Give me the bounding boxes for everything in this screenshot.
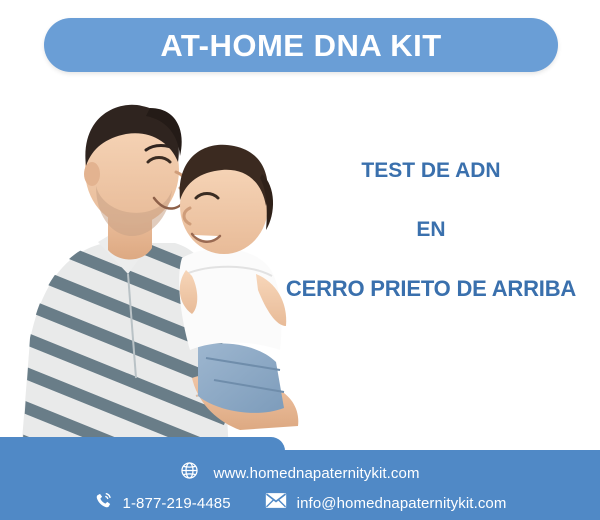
phone-contact[interactable]: 1-877-219-4485 — [94, 491, 231, 515]
headline-line-2: EN — [262, 219, 600, 240]
phone-label[interactable]: 1-877-219-4485 — [123, 496, 231, 511]
email-label[interactable]: info@homednapaternitykit.com — [297, 496, 507, 511]
footer: www.homednapaternitykit.com 1-877-219-44… — [0, 437, 600, 520]
globe-icon — [180, 461, 199, 485]
website-label[interactable]: www.homednapaternitykit.com — [213, 466, 419, 481]
footer-contact-row: 1-877-219-4485 info@homednapaternitykit.… — [0, 491, 600, 515]
header-banner: AT-HOME DNA KIT — [44, 18, 558, 72]
footer-content: www.homednapaternitykit.com 1-877-219-44… — [0, 437, 600, 520]
headline-line-1: TEST DE ADN — [262, 160, 600, 181]
email-contact[interactable]: info@homednapaternitykit.com — [265, 492, 507, 514]
headline-line-3: CERRO PRIETO DE ARRIBA — [262, 278, 600, 300]
promo-card: AT-HOME DNA KIT — [0, 0, 600, 520]
family-photo-illustration — [0, 78, 300, 453]
headline-block: TEST DE ADN EN CERRO PRIETO DE ARRIBA — [262, 160, 600, 300]
page-title: AT-HOME DNA KIT — [160, 30, 441, 61]
envelope-icon — [265, 492, 287, 514]
family-photo — [0, 78, 300, 453]
footer-website-row: www.homednapaternitykit.com — [0, 461, 600, 485]
phone-icon — [94, 491, 113, 515]
